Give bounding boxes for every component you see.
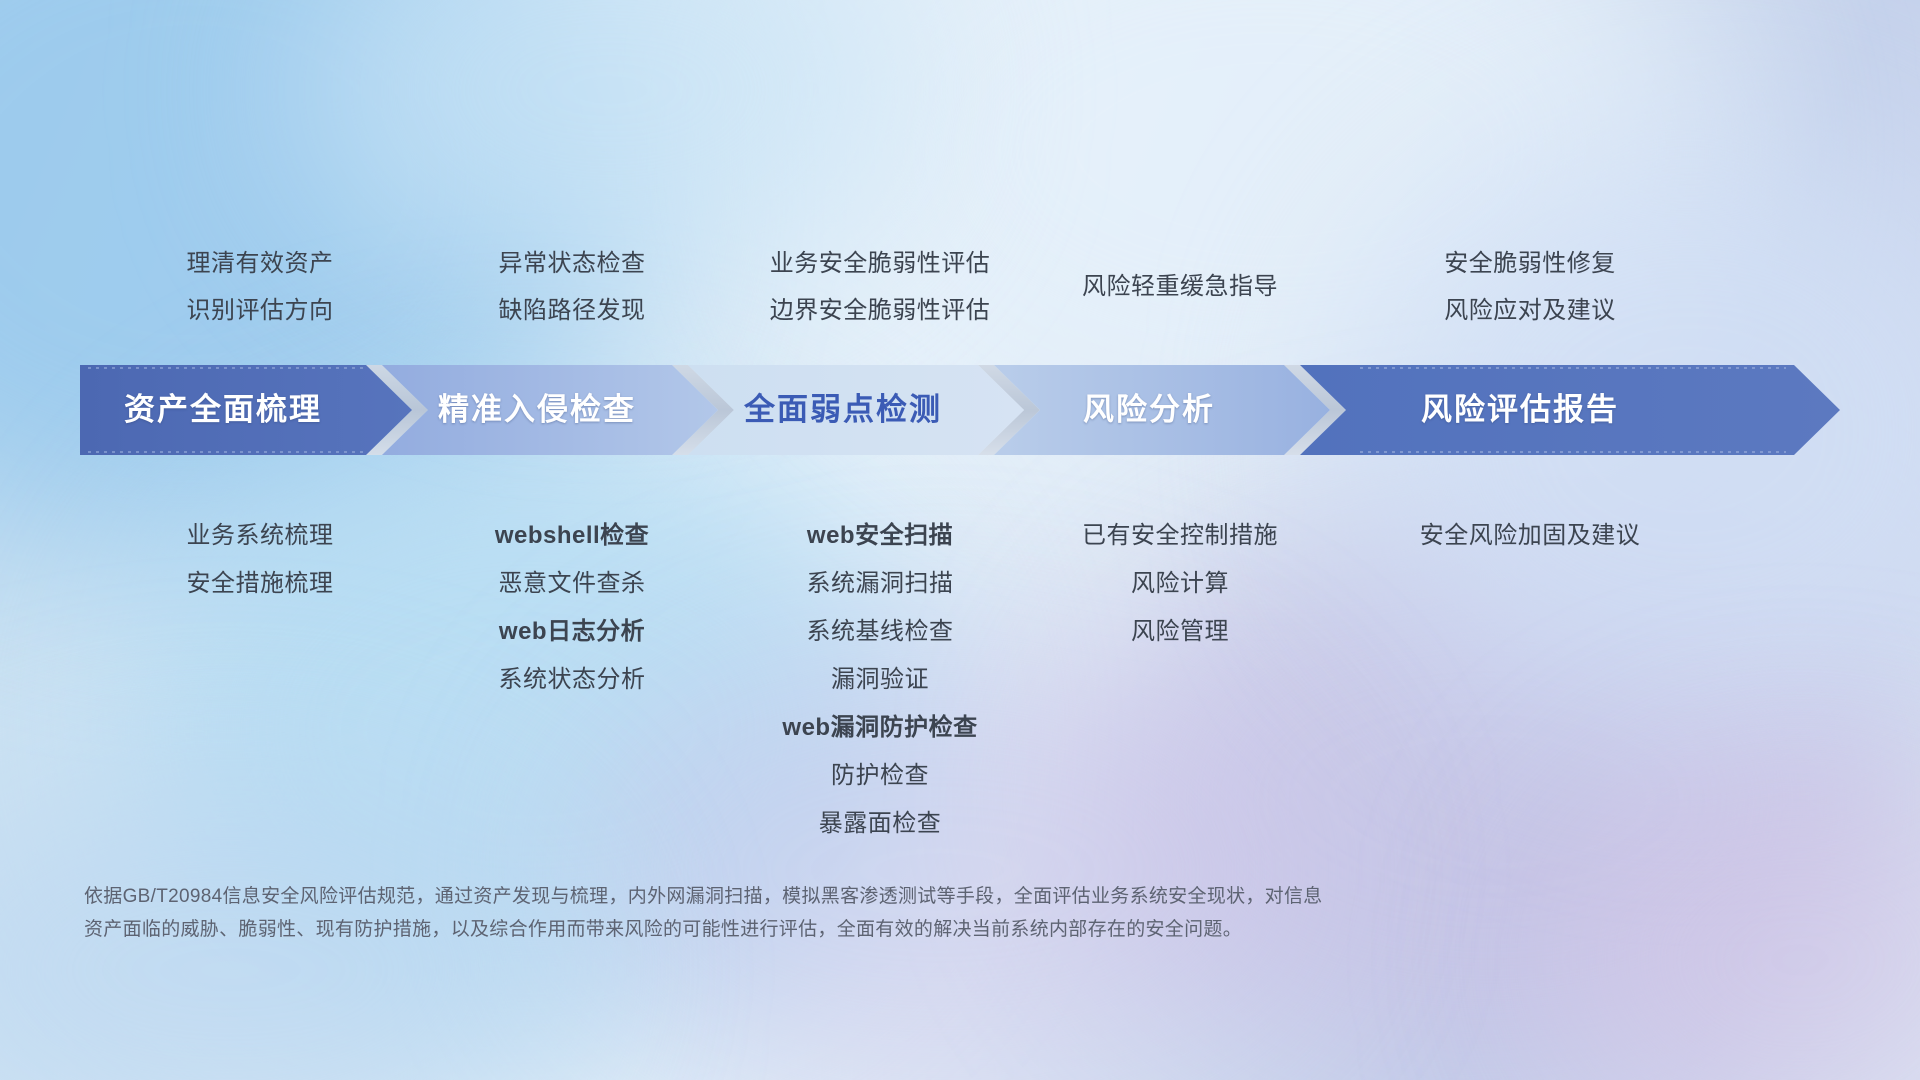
stage-3-bottom-list: web安全扫描 系统漏洞扫描 系统基线检查 漏洞验证 web漏洞防护检查 防护检… xyxy=(720,512,1040,848)
bottom-list-item: 防护检查 xyxy=(720,752,1040,800)
top-list-item: 风险应对及建议 xyxy=(1330,287,1730,334)
top-list-item: 边界安全脆弱性评估 xyxy=(720,287,1040,334)
stage-1-bottom-list: 业务系统梳理 安全措施梳理 xyxy=(80,512,440,608)
bottom-list-item: web日志分析 xyxy=(412,608,732,656)
top-list-item: 识别评估方向 xyxy=(80,287,440,334)
stage-4-bottom-list: 已有安全控制措施 风险计算 风险管理 xyxy=(1020,512,1340,656)
stage-1-top-list: 理清有效资产 识别评估方向 xyxy=(80,240,440,360)
process-chevron-banner xyxy=(80,365,1840,455)
bottom-list-item: 恶意文件查杀 xyxy=(412,560,732,608)
stage-2-top-list: 异常状态检查 缺陷路径发现 xyxy=(412,240,732,360)
top-list-item: 缺陷路径发现 xyxy=(412,287,732,334)
stage-4-top-list: 风险轻重缓急指导 xyxy=(1020,240,1340,360)
slide-canvas: 理清有效资产 识别评估方向 业务系统梳理 安全措施梳理 异常状态检查 缺陷路径发… xyxy=(0,0,1920,1080)
stage-3-top-list: 业务安全脆弱性评估 边界安全脆弱性评估 xyxy=(720,240,1040,360)
bottom-list-item: 系统状态分析 xyxy=(412,656,732,704)
bottom-list-item: 系统基线检查 xyxy=(720,608,1040,656)
stage-5-top-list: 安全脆弱性修复 风险应对及建议 xyxy=(1330,240,1730,360)
footer-line-2: 资产面临的威胁、脆弱性、现有防护措施，以及综合作用而带来风险的可能性进行评估，全… xyxy=(84,913,1584,946)
bottom-list-item: 暴露面检查 xyxy=(720,800,1040,848)
bottom-list-item: webshell检查 xyxy=(412,512,732,560)
stage-5-bottom-list: 安全风险加固及建议 xyxy=(1330,512,1730,560)
top-list-item: 异常状态检查 xyxy=(412,240,732,287)
footer-description: 依据GB/T20984信息安全风险评估规范，通过资产发现与梳理，内外网漏洞扫描，… xyxy=(84,880,1584,946)
bottom-list-item: 安全风险加固及建议 xyxy=(1330,512,1730,560)
bottom-list-item: 安全措施梳理 xyxy=(80,560,440,608)
bottom-list-item: 风险计算 xyxy=(1020,560,1340,608)
bottom-list-item: 业务系统梳理 xyxy=(80,512,440,560)
stage-2-bottom-list: webshell检查 恶意文件查杀 web日志分析 系统状态分析 xyxy=(412,512,732,704)
top-list-item: 理清有效资产 xyxy=(80,240,440,287)
bottom-list-item: 已有安全控制措施 xyxy=(1020,512,1340,560)
top-list-item: 安全脆弱性修复 xyxy=(1330,240,1730,287)
bottom-list-item: 漏洞验证 xyxy=(720,656,1040,704)
footer-line-1: 依据GB/T20984信息安全风险评估规范，通过资产发现与梳理，内外网漏洞扫描，… xyxy=(84,880,1584,913)
top-list-item: 业务安全脆弱性评估 xyxy=(720,240,1040,287)
bottom-list-item: 风险管理 xyxy=(1020,608,1340,656)
top-list-item: 风险轻重缓急指导 xyxy=(1020,240,1340,334)
bottom-list-item: 系统漏洞扫描 xyxy=(720,560,1040,608)
bottom-list-item: web漏洞防护检查 xyxy=(720,704,1040,752)
bottom-list-item: web安全扫描 xyxy=(720,512,1040,560)
